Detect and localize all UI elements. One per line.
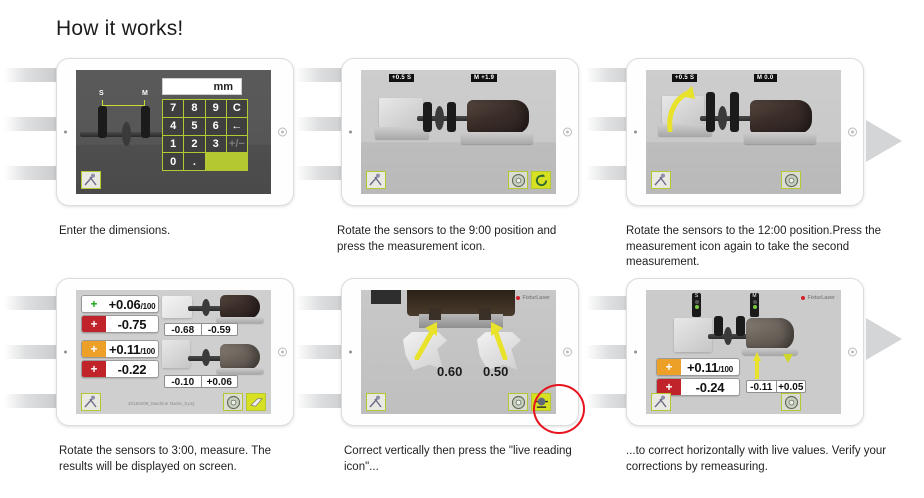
angle-green-icon: + — [82, 296, 106, 312]
dial-gauge-icon[interactable] — [508, 393, 528, 411]
motor-body-top — [220, 295, 260, 319]
machine-edge — [371, 290, 401, 304]
brand-label: FixturLaser — [522, 295, 550, 301]
brand-dot-icon — [516, 296, 520, 300]
sensor-tag-s: +0.5 S — [672, 74, 697, 82]
coupling — [122, 122, 131, 146]
sensor-tag-s: +0.5 S — [389, 74, 414, 82]
wrench-screwdriver-icon[interactable] — [651, 171, 671, 189]
tablet-frame: +0.5 S M 0.0 — [626, 58, 864, 206]
tlight-lamp-on — [753, 305, 757, 309]
wrench-screwdriver-icon[interactable] — [81, 171, 101, 189]
home-button[interactable] — [278, 128, 287, 137]
coupling — [435, 106, 444, 130]
foot-value-right: 0.50 — [483, 364, 508, 379]
backspace-icon[interactable]: ← — [227, 118, 247, 135]
steps-grid: S M mm 7 8 9 C 4 5 6 ← 1 2 — [0, 52, 924, 498]
value-cell: +0.11/100 — [106, 341, 158, 357]
dimension-display-unit: mm — [213, 81, 233, 93]
table-row: + +0.11/100 — [656, 358, 740, 376]
key-5[interactable]: 5 — [184, 118, 204, 135]
value-cell: -0.24 — [681, 379, 739, 395]
status-badge-m: M — [750, 293, 759, 317]
key-decimal[interactable]: . — [184, 153, 204, 170]
up-arrow-right-icon — [487, 320, 515, 365]
step-6-caption: ...to correct horizontally with live val… — [626, 444, 896, 475]
tlight-lamp-on — [695, 305, 699, 309]
tablet-screen[interactable]: S M — [646, 290, 841, 414]
brand-logo: FixturLaser — [516, 295, 550, 301]
tablet-screen[interactable]: +0.5 S M +1.9 — [361, 70, 556, 194]
motor-base — [461, 132, 533, 144]
foot-value: +0.05 — [776, 381, 806, 392]
table-row: + +0.06/100 — [81, 295, 159, 313]
motor-base — [744, 132, 816, 144]
tablet-frame: +0.5 S M +1.9 — [341, 58, 579, 206]
brand-logo: FixturLaser — [801, 295, 835, 301]
numeric-keypad[interactable]: 7 8 9 C 4 5 6 ← 1 2 3 +/− 0 . — [162, 99, 248, 171]
dial-gauge-icon[interactable] — [223, 393, 243, 411]
feet-values: -0.11 +0.05 — [746, 380, 806, 393]
sensor-s — [98, 106, 107, 138]
bolt-right — [479, 308, 491, 320]
red-circle-highlight-icon — [533, 384, 585, 434]
sensor-m — [736, 316, 745, 336]
sensor-s — [714, 316, 723, 336]
home-button[interactable] — [563, 128, 572, 137]
motor-body — [746, 318, 794, 350]
tablet-frame: + +0.06/100 + -0.75 -0.68 -0.59 + — [56, 278, 294, 426]
sensor-s — [706, 92, 715, 132]
brand-dot-icon — [801, 296, 805, 300]
sensor-tag-m: M 0.0 — [754, 74, 777, 82]
key-1[interactable]: 1 — [163, 136, 183, 153]
step-4-panel: + +0.06/100 + -0.75 -0.68 -0.59 + — [56, 278, 294, 426]
dimension-label-s: S — [99, 90, 104, 97]
dial-gauge-icon[interactable] — [508, 171, 528, 189]
pump-body — [379, 98, 423, 128]
pump-base — [375, 127, 429, 139]
measurement-filename: 20150409_Machine Name_5.pnj — [128, 401, 194, 406]
tablet-screen[interactable]: S M mm 7 8 9 C 4 5 6 ← 1 2 — [76, 70, 271, 194]
key-filler — [227, 153, 247, 170]
tlight-label-m: M — [752, 294, 756, 299]
angle-orange-icon: + — [657, 359, 681, 375]
dimension-label-m: M — [142, 90, 148, 97]
motor-body-bottom — [220, 344, 260, 370]
key-9[interactable]: 9 — [206, 100, 226, 117]
step-3-caption: Rotate the sensors to the 12:00 position… — [626, 224, 894, 271]
feet-values-bottom: -0.10 +0.06 — [164, 375, 238, 388]
step-4-caption: Rotate the sensors to 3:00, measure. The… — [59, 444, 299, 475]
step-6-panel: S M — [626, 278, 864, 426]
wrench-screwdriver-icon[interactable] — [366, 393, 386, 411]
table-row: + -0.22 — [81, 360, 159, 378]
tlight-lamp — [753, 300, 757, 304]
motor-underside — [407, 290, 515, 316]
wrench-screwdriver-icon[interactable] — [81, 393, 101, 411]
step-1-caption: Enter the dimensions. — [59, 224, 289, 240]
offset-red-icon: + — [82, 316, 106, 332]
sensor-m — [141, 106, 150, 138]
tablet-screen[interactable]: 0.60 0.50 FixturLaser — [361, 290, 556, 414]
tablet-screen[interactable]: + +0.06/100 + -0.75 -0.68 -0.59 + — [76, 290, 271, 414]
dimension-display[interactable]: mm — [162, 78, 242, 95]
step-2-caption: Rotate the sensors to the 9:00 position … — [337, 224, 585, 255]
sensor-m — [447, 102, 456, 132]
key-0[interactable]: 0 — [163, 153, 183, 170]
foot-value: -0.10 — [165, 376, 201, 387]
home-button[interactable] — [848, 348, 857, 357]
brand-label: FixturLaser — [807, 295, 835, 301]
shim-correction-icon[interactable] — [246, 393, 266, 411]
tablet-screen[interactable]: +0.5 S M 0.0 — [646, 70, 841, 194]
camera-dot-icon — [64, 131, 67, 134]
wrench-screwdriver-icon[interactable] — [366, 171, 386, 189]
up-arrow-left-icon — [413, 320, 441, 365]
sensor-m — [730, 92, 739, 132]
dial-gauge-icon[interactable] — [781, 393, 801, 411]
camera-dot-icon — [634, 351, 637, 354]
key-3[interactable]: 3 — [206, 136, 226, 153]
foot-value: -0.68 — [165, 324, 201, 335]
foot-value: -0.11 — [747, 381, 776, 392]
tablet-frame: S M — [626, 278, 864, 426]
step-5-panel: 0.60 0.50 FixturLaser — [341, 278, 579, 426]
step-5-caption: Correct vertically then press the "live … — [344, 444, 594, 475]
key-8[interactable]: 8 — [184, 100, 204, 117]
pump-body — [674, 318, 712, 352]
dial-gauge-icon[interactable] — [781, 171, 801, 189]
key-clear[interactable]: C — [227, 100, 247, 117]
table-row: + -0.75 — [81, 315, 159, 333]
table-row: + +0.11/100 — [81, 340, 159, 358]
pump-body-bottom — [162, 340, 190, 368]
step-3-panel: +0.5 S M 0.0 — [626, 58, 864, 206]
tlight-label-s: S — [695, 294, 698, 299]
key-6[interactable]: 6 — [206, 118, 226, 135]
camera-dot-icon — [349, 351, 352, 354]
camera-dot-icon — [64, 351, 67, 354]
tlight-lamp — [695, 300, 699, 304]
motor-body — [467, 100, 529, 134]
coupling-bottom — [202, 349, 210, 366]
motor-body — [750, 100, 812, 134]
bolt-left — [429, 308, 441, 320]
status-badge-s: S — [692, 293, 701, 317]
wrench-screwdriver-icon[interactable] — [651, 393, 671, 411]
coupling-top — [202, 299, 210, 316]
value-cell: +0.11/100 — [681, 359, 739, 375]
page-title: How it works! — [56, 17, 183, 41]
camera-dot-icon — [349, 131, 352, 134]
foot-value-left: 0.60 — [437, 364, 462, 379]
motor-base-bottom — [216, 368, 264, 374]
key-7[interactable]: 7 — [163, 100, 183, 117]
live-arrow-right-icon — [782, 352, 794, 370]
feet-values-top: -0.68 -0.59 — [164, 323, 238, 336]
foot-value: -0.59 — [201, 324, 238, 335]
tablet-frame: S M mm 7 8 9 C 4 5 6 ← 1 2 — [56, 58, 294, 206]
step-1-panel: S M mm 7 8 9 C 4 5 6 ← 1 2 — [56, 58, 294, 206]
key-filler — [206, 153, 226, 170]
dimension-bracket — [102, 100, 145, 106]
curved-up-arrow-icon — [662, 84, 702, 137]
value-cell: -0.22 — [106, 361, 158, 377]
camera-dot-icon — [634, 131, 637, 134]
rotate-arrow-icon[interactable] — [531, 171, 551, 189]
offset-red-icon: + — [82, 361, 106, 377]
sensor-tag-m: M +1.9 — [471, 74, 497, 82]
sensor-s — [423, 102, 432, 132]
value-cell: +0.06/100 — [106, 296, 158, 312]
home-button[interactable] — [848, 128, 857, 137]
coupling — [724, 327, 732, 345]
key-4[interactable]: 4 — [163, 118, 183, 135]
coupling — [718, 106, 727, 130]
key-sign-toggle[interactable]: +/− — [227, 136, 247, 153]
key-2[interactable]: 2 — [184, 136, 204, 153]
foot-value: +0.06 — [201, 376, 238, 387]
home-button[interactable] — [278, 348, 287, 357]
home-button[interactable] — [563, 348, 572, 357]
step-2-panel: +0.5 S M +1.9 — [341, 58, 579, 206]
value-cell: -0.75 — [106, 316, 158, 332]
angle-orange-icon: + — [82, 341, 106, 357]
